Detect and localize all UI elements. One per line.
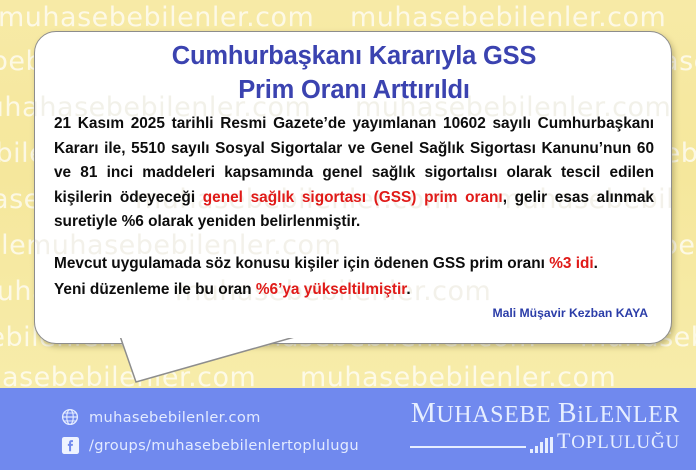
- brand-line-2-b: OPLULUĞU: [571, 432, 680, 453]
- footer-bar: muhasebebilenler.com /groups/muhasebebil…: [0, 388, 696, 470]
- footer-links: muhasebebilenler.com /groups/muhasebebil…: [60, 404, 359, 460]
- paragraph-2-segment-3: .: [594, 255, 598, 272]
- facebook-link[interactable]: /groups/muhasebebilenlertoplulugu: [60, 432, 359, 458]
- paragraph-3-highlight: %6’ya yükseltilmiştir: [256, 281, 407, 298]
- card-content: Cumhurbaşkanı Kararıyla GSS Prim Oranı A…: [35, 32, 671, 320]
- brand-line-1-a: M: [411, 398, 437, 429]
- paragraph-2: Mevcut uygulamada söz konusu kişiler içi…: [54, 252, 654, 277]
- facebook-label: /groups/muhasebebilenlertoplulugu: [89, 437, 359, 454]
- paragraph-1-highlight: genel sağlık sigortası (GSS) prim oranı: [203, 189, 503, 206]
- website-label: muhasebebilenler.com: [89, 409, 261, 426]
- website-link[interactable]: muhasebebilenler.com: [60, 404, 359, 430]
- brand-line-2-a: T: [557, 428, 571, 453]
- brand-line-1-d: iLENLER: [577, 402, 680, 428]
- bar-chart-icon: [530, 437, 553, 453]
- paragraph-3-segment-1: Yeni düzenleme ile bu oran: [54, 281, 256, 298]
- title-line-1: Cumhurbaşkanı Kararıyla GSS: [54, 40, 654, 72]
- brand-line-1-b: UHASEBE: [436, 402, 557, 428]
- infographic-page: muhasebebilenler.com muhasebebilenler.co…: [0, 0, 696, 470]
- facebook-icon: [60, 435, 80, 455]
- paragraph-3-segment-3: .: [406, 281, 410, 298]
- paragraph-3: Yeni düzenleme ile bu oran %6’ya yükselt…: [54, 278, 654, 303]
- brand-line-2: TOPLULUĞU: [557, 430, 680, 453]
- paragraph-1: 21 Kasım 2025 tarihli Resmi Gazete’de ya…: [54, 112, 654, 235]
- announcement-card: muhasebebilenler.com muhasebebilenler.co…: [34, 31, 672, 344]
- page-title: Cumhurbaşkanı Kararıyla GSS Prim Oranı A…: [54, 40, 654, 106]
- paragraph-2-segment-1: Mevcut uygulamada söz konusu kişiler içi…: [54, 255, 549, 272]
- globe-icon: [60, 407, 80, 427]
- author-signature: Mali Müşavir Kezban KAYA: [54, 306, 654, 320]
- brand-rule: [410, 446, 526, 448]
- brand-line-2-row: TOPLULUĞU: [410, 430, 680, 453]
- brand-line-1-c: B: [558, 398, 577, 429]
- title-line-2: Prim Oranı Arttırıldı: [54, 74, 654, 106]
- brand-line-1: MUHASEBE BiLENLER: [410, 400, 680, 429]
- brand-logo: MUHASEBE BiLENLER TOPLULUĞU: [410, 400, 680, 453]
- paragraph-2-highlight: %3 idi: [549, 255, 593, 272]
